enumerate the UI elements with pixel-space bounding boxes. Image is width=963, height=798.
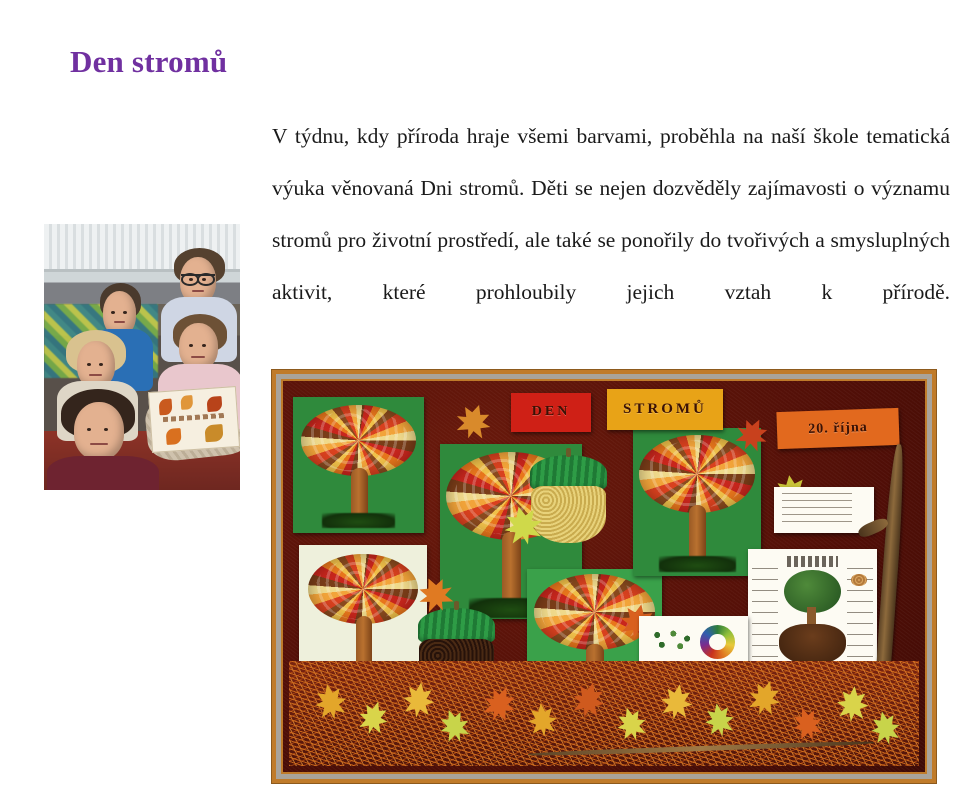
book-leaf xyxy=(205,424,223,442)
sign-den-text: DEN xyxy=(532,404,571,420)
poster-left-column xyxy=(752,568,778,667)
garland-twig xyxy=(528,740,874,757)
eye xyxy=(87,428,91,431)
tree-ring-diagram xyxy=(851,574,866,586)
garland-leaf xyxy=(744,676,785,720)
leaf-specimens xyxy=(648,628,694,655)
acorn-craft-corn xyxy=(530,455,607,541)
tree-grass xyxy=(322,513,396,528)
garland-leaf xyxy=(788,703,826,744)
garland-leaf xyxy=(702,701,736,739)
eye xyxy=(104,428,108,431)
garland-leaf xyxy=(658,681,695,722)
tree-crown xyxy=(308,554,418,624)
document-page: Den stromů xyxy=(0,0,963,798)
page-title: Den stromů xyxy=(70,44,227,80)
board-surface: DEN STROMŮ 20. října xyxy=(283,381,925,772)
poster-heading xyxy=(787,556,838,567)
garland-leaf xyxy=(569,678,608,720)
garland-leaf xyxy=(311,681,349,723)
tree-crown xyxy=(301,405,417,476)
mouth xyxy=(90,443,108,445)
garland-leaf xyxy=(527,701,559,738)
sign-stromu: STROMŮ xyxy=(607,389,723,430)
color-wheel-diagram xyxy=(700,625,735,659)
straw-leaf-garland xyxy=(289,661,918,767)
tree-craft-green-top-left xyxy=(293,397,425,534)
garland-leaf xyxy=(835,684,870,723)
garland-leaf xyxy=(400,680,436,720)
sign-date: 20. října xyxy=(777,408,900,449)
card-notes xyxy=(774,487,874,534)
book-leaf xyxy=(165,428,182,444)
garland-leaf xyxy=(868,709,903,748)
tree-crown xyxy=(639,435,755,512)
sign-date-text: 20. října xyxy=(808,420,868,438)
garland-leaf xyxy=(612,704,649,744)
garland-leaf xyxy=(435,705,474,747)
bulletin-board-photo: DEN STROMŮ 20. října xyxy=(272,370,936,783)
sign-stromu-text: STROMŮ xyxy=(623,401,707,418)
decor-leaf xyxy=(452,400,496,444)
acorn-nut xyxy=(531,486,606,543)
photo-wrap-spacer xyxy=(70,110,258,366)
tree-trunk xyxy=(689,505,706,561)
tree-trunk xyxy=(502,532,520,606)
tree-grass xyxy=(659,556,736,572)
note-text-lines xyxy=(782,493,852,524)
torso xyxy=(47,456,159,490)
sign-den: DEN xyxy=(511,393,591,432)
garland-leaf xyxy=(355,697,392,737)
garland-leaf xyxy=(479,681,522,726)
tree-craft-green-right xyxy=(633,428,761,577)
poster-tree-roots xyxy=(779,624,846,665)
